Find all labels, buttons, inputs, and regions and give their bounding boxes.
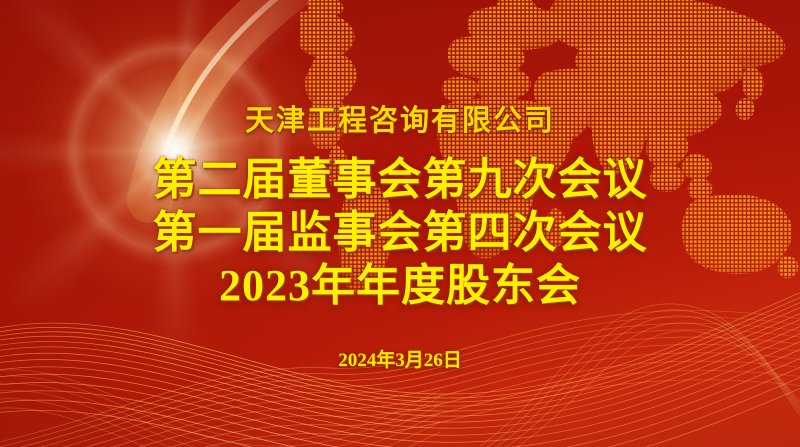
meeting-banner: 天津工程咨询有限公司 第二届董事会第九次会议 第一届监事会第四次会议 2023年… — [0, 0, 800, 447]
meeting-title-line-2: 第一届监事会第四次会议 — [153, 206, 648, 259]
meeting-title-line-1: 第二届董事会第九次会议 — [153, 153, 648, 206]
meeting-title-block: 第二届董事会第九次会议 第一届监事会第四次会议 2023年年度股东会 — [153, 153, 648, 312]
company-name: 天津工程咨询有限公司 — [245, 97, 555, 139]
banner-content: 天津工程咨询有限公司 第二届董事会第九次会议 第一届监事会第四次会议 2023年… — [0, 0, 800, 447]
meeting-date: 2024年3月26日 — [0, 345, 800, 372]
meeting-title-line-3: 2023年年度股东会 — [219, 259, 581, 312]
